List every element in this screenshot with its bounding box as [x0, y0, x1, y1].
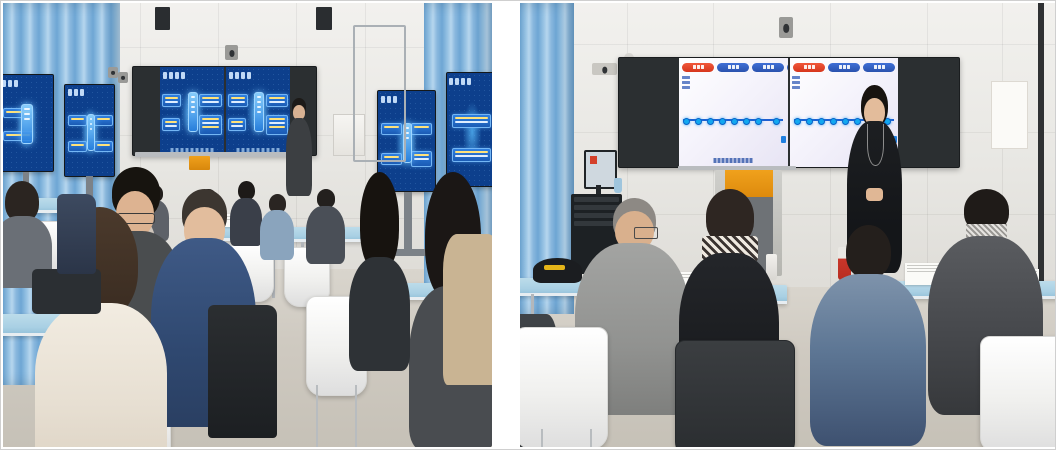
board-tray-orange-marker [189, 156, 211, 170]
slide-side-label-2 [792, 76, 800, 89]
wall-camera-icon [225, 45, 238, 60]
wall-notice-board [991, 81, 1028, 150]
rack-bottle [614, 178, 621, 192]
operator-monitor-stand [596, 185, 601, 194]
hands [866, 188, 882, 201]
glasses-icon-right [634, 227, 657, 239]
stand-monitor-left[interactable] [64, 84, 115, 177]
audience-back-3 [260, 194, 294, 256]
slide-title-blocks [163, 72, 185, 79]
slide-tab-row-2[interactable] [793, 63, 898, 72]
sensor-icon-left-2 [118, 72, 128, 83]
right-chair-left[interactable] [520, 327, 608, 447]
right-classroom-scene [520, 3, 1055, 447]
coat-over-chair [208, 305, 276, 438]
slide-tab-active-2[interactable] [793, 63, 825, 72]
photo-pair-figure [0, 0, 1056, 450]
ceiling-camera-icon [779, 17, 793, 37]
right-chair-right[interactable] [980, 336, 1055, 447]
slide-edge-badge-1 [781, 136, 786, 143]
right-slide-screen-1[interactable] [679, 58, 788, 167]
right-photo [520, 3, 1055, 447]
chair-leg-3 [316, 385, 318, 447]
doorway-frame [353, 25, 406, 162]
slide-tab-2b[interactable] [828, 63, 860, 72]
black-cap-on-desk [533, 258, 581, 282]
sensor-icon-left [108, 67, 118, 78]
lanyard-icon [867, 124, 883, 166]
ceiling-speaker-right [316, 7, 332, 29]
ceiling-speaker-left [155, 7, 171, 29]
chair-leg-4 [355, 385, 357, 447]
audience-back-4 [306, 189, 345, 260]
right-audience-man-blue [814, 225, 921, 429]
audience-right-woman [350, 172, 409, 350]
slide-side-label-1 [682, 76, 690, 89]
slide-tab-3b[interactable] [863, 63, 895, 72]
slide-caption-strip-1 [714, 158, 753, 163]
stand-monitor-far-left[interactable] [3, 74, 54, 172]
backpack-on-desk [32, 269, 100, 313]
left-classroom-scene [3, 3, 492, 447]
left-slide-screen-2[interactable] [226, 67, 290, 154]
wall-speaker-pair-icon [592, 63, 617, 75]
right-main-display-board[interactable] [618, 57, 960, 168]
operator-monitor[interactable] [584, 150, 617, 190]
slide-tab-2[interactable] [717, 63, 749, 72]
stand-monitor-far-right[interactable] [446, 72, 492, 187]
audience-right-tan [443, 234, 492, 385]
slide-title-blocks-2 [229, 72, 251, 79]
left-presenter [284, 98, 313, 196]
slide-tab-3[interactable] [752, 63, 784, 72]
right-chair-center[interactable] [675, 340, 795, 447]
slide-tab-active[interactable] [682, 63, 714, 72]
r-chair-leg-2 [590, 429, 592, 447]
left-slide-screen-1[interactable] [160, 67, 224, 154]
timeline-axis-1 [683, 119, 783, 121]
left-photo [3, 3, 492, 447]
slide-tab-row-1[interactable] [682, 63, 787, 72]
coat-on-back-chair [57, 194, 96, 274]
r-chair-leg-1 [541, 429, 543, 447]
audience-left-edge [3, 181, 52, 279]
